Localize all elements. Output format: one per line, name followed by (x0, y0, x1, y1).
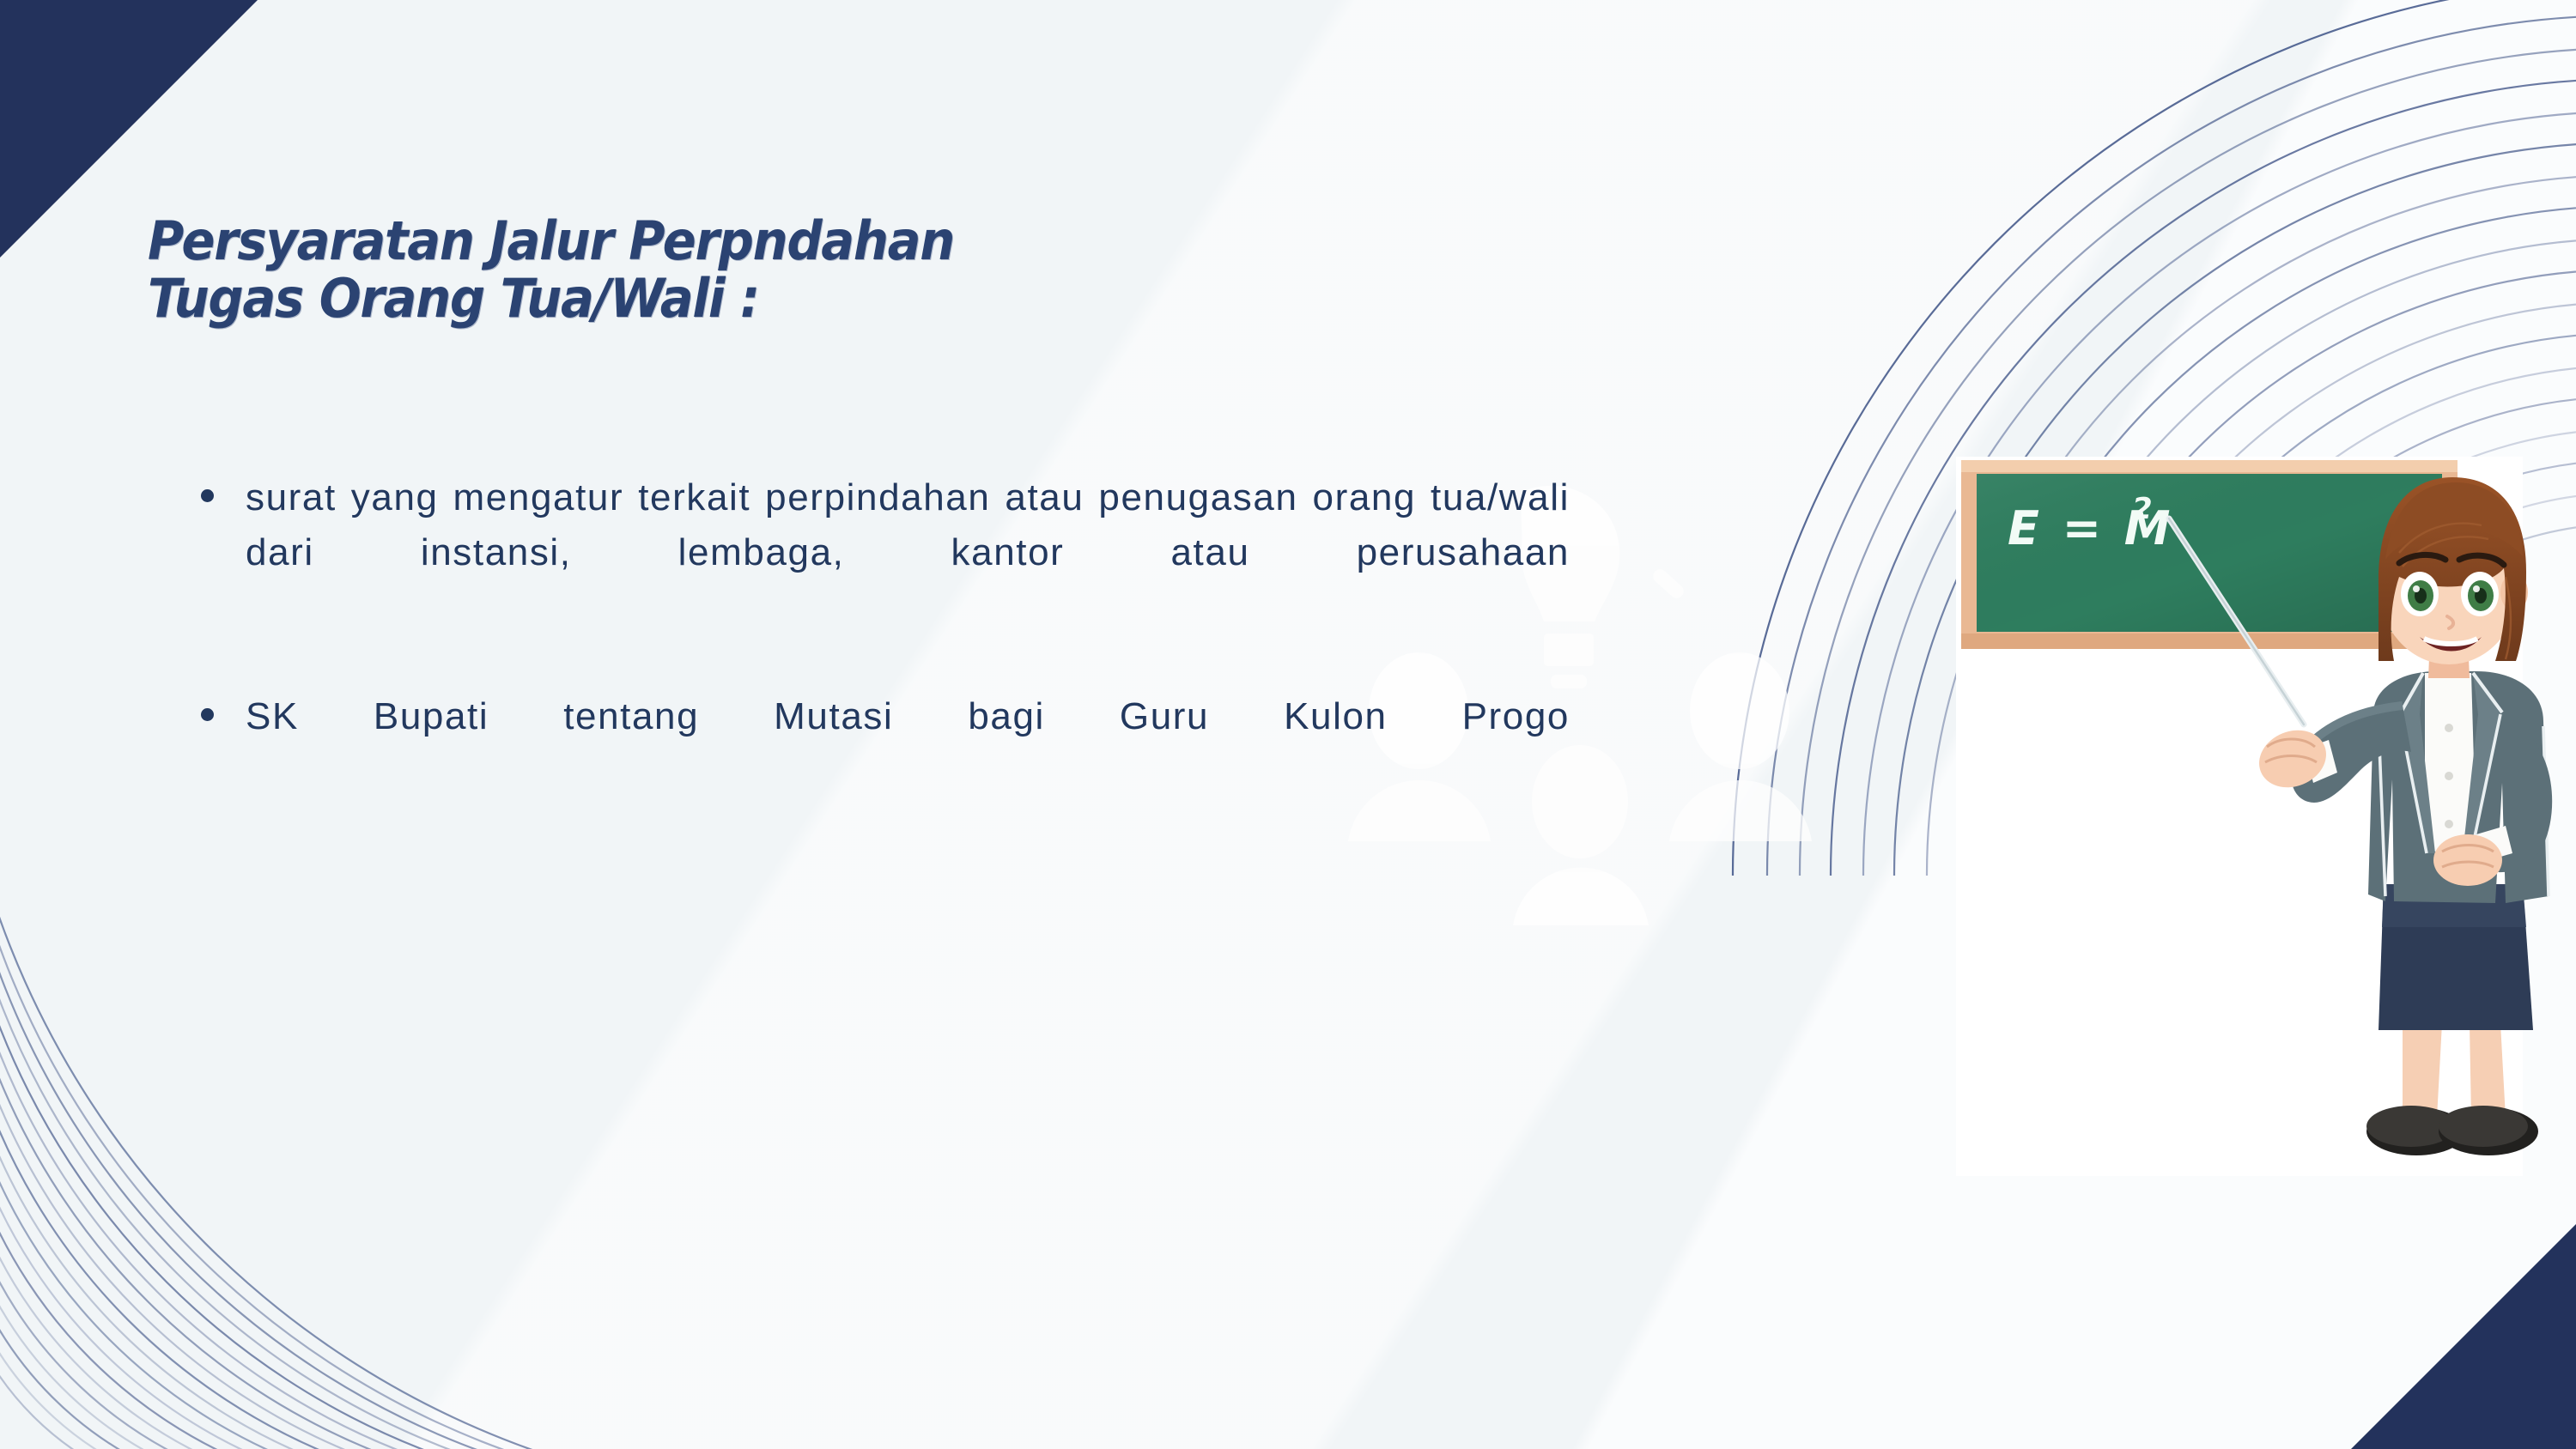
slide-title: Persyaratan Jalur Perpndahan Tugas Orang… (148, 213, 1425, 328)
svg-text:2: 2 (2132, 492, 2153, 526)
slide-title-line-1: Persyaratan Jalur Perpndahan (148, 213, 1425, 270)
bullet-dot-icon (201, 708, 214, 721)
requirements-list: surat yang mengatur terkait perpindahan … (196, 470, 1570, 799)
slide-canvas: Persyaratan Jalur Perpndahan Tugas Orang… (0, 0, 2576, 1449)
chalkboard-formula: E = M 2 (2008, 492, 2173, 555)
teacher-at-chalkboard-graphic: E = M 2 (1956, 457, 2576, 1176)
list-item: surat yang mengatur terkait perpindahan … (196, 470, 1570, 636)
slide-title-line-2: Tugas Orang Tua/Wali : (148, 270, 1425, 328)
list-item-text: SK Bupati tentang Mutasi bagi Guru Kulon… (246, 689, 1570, 799)
corner-wedge-top-left (0, 0, 258, 258)
teacher-illustration: E = M 2 (1956, 457, 2576, 1176)
list-item-text: surat yang mengatur terkait perpindahan … (246, 470, 1570, 636)
corner-wedge-bottom-right (2351, 1224, 2576, 1449)
list-item: SK Bupati tentang Mutasi bagi Guru Kulon… (196, 689, 1570, 799)
bullet-dot-icon (201, 489, 214, 502)
